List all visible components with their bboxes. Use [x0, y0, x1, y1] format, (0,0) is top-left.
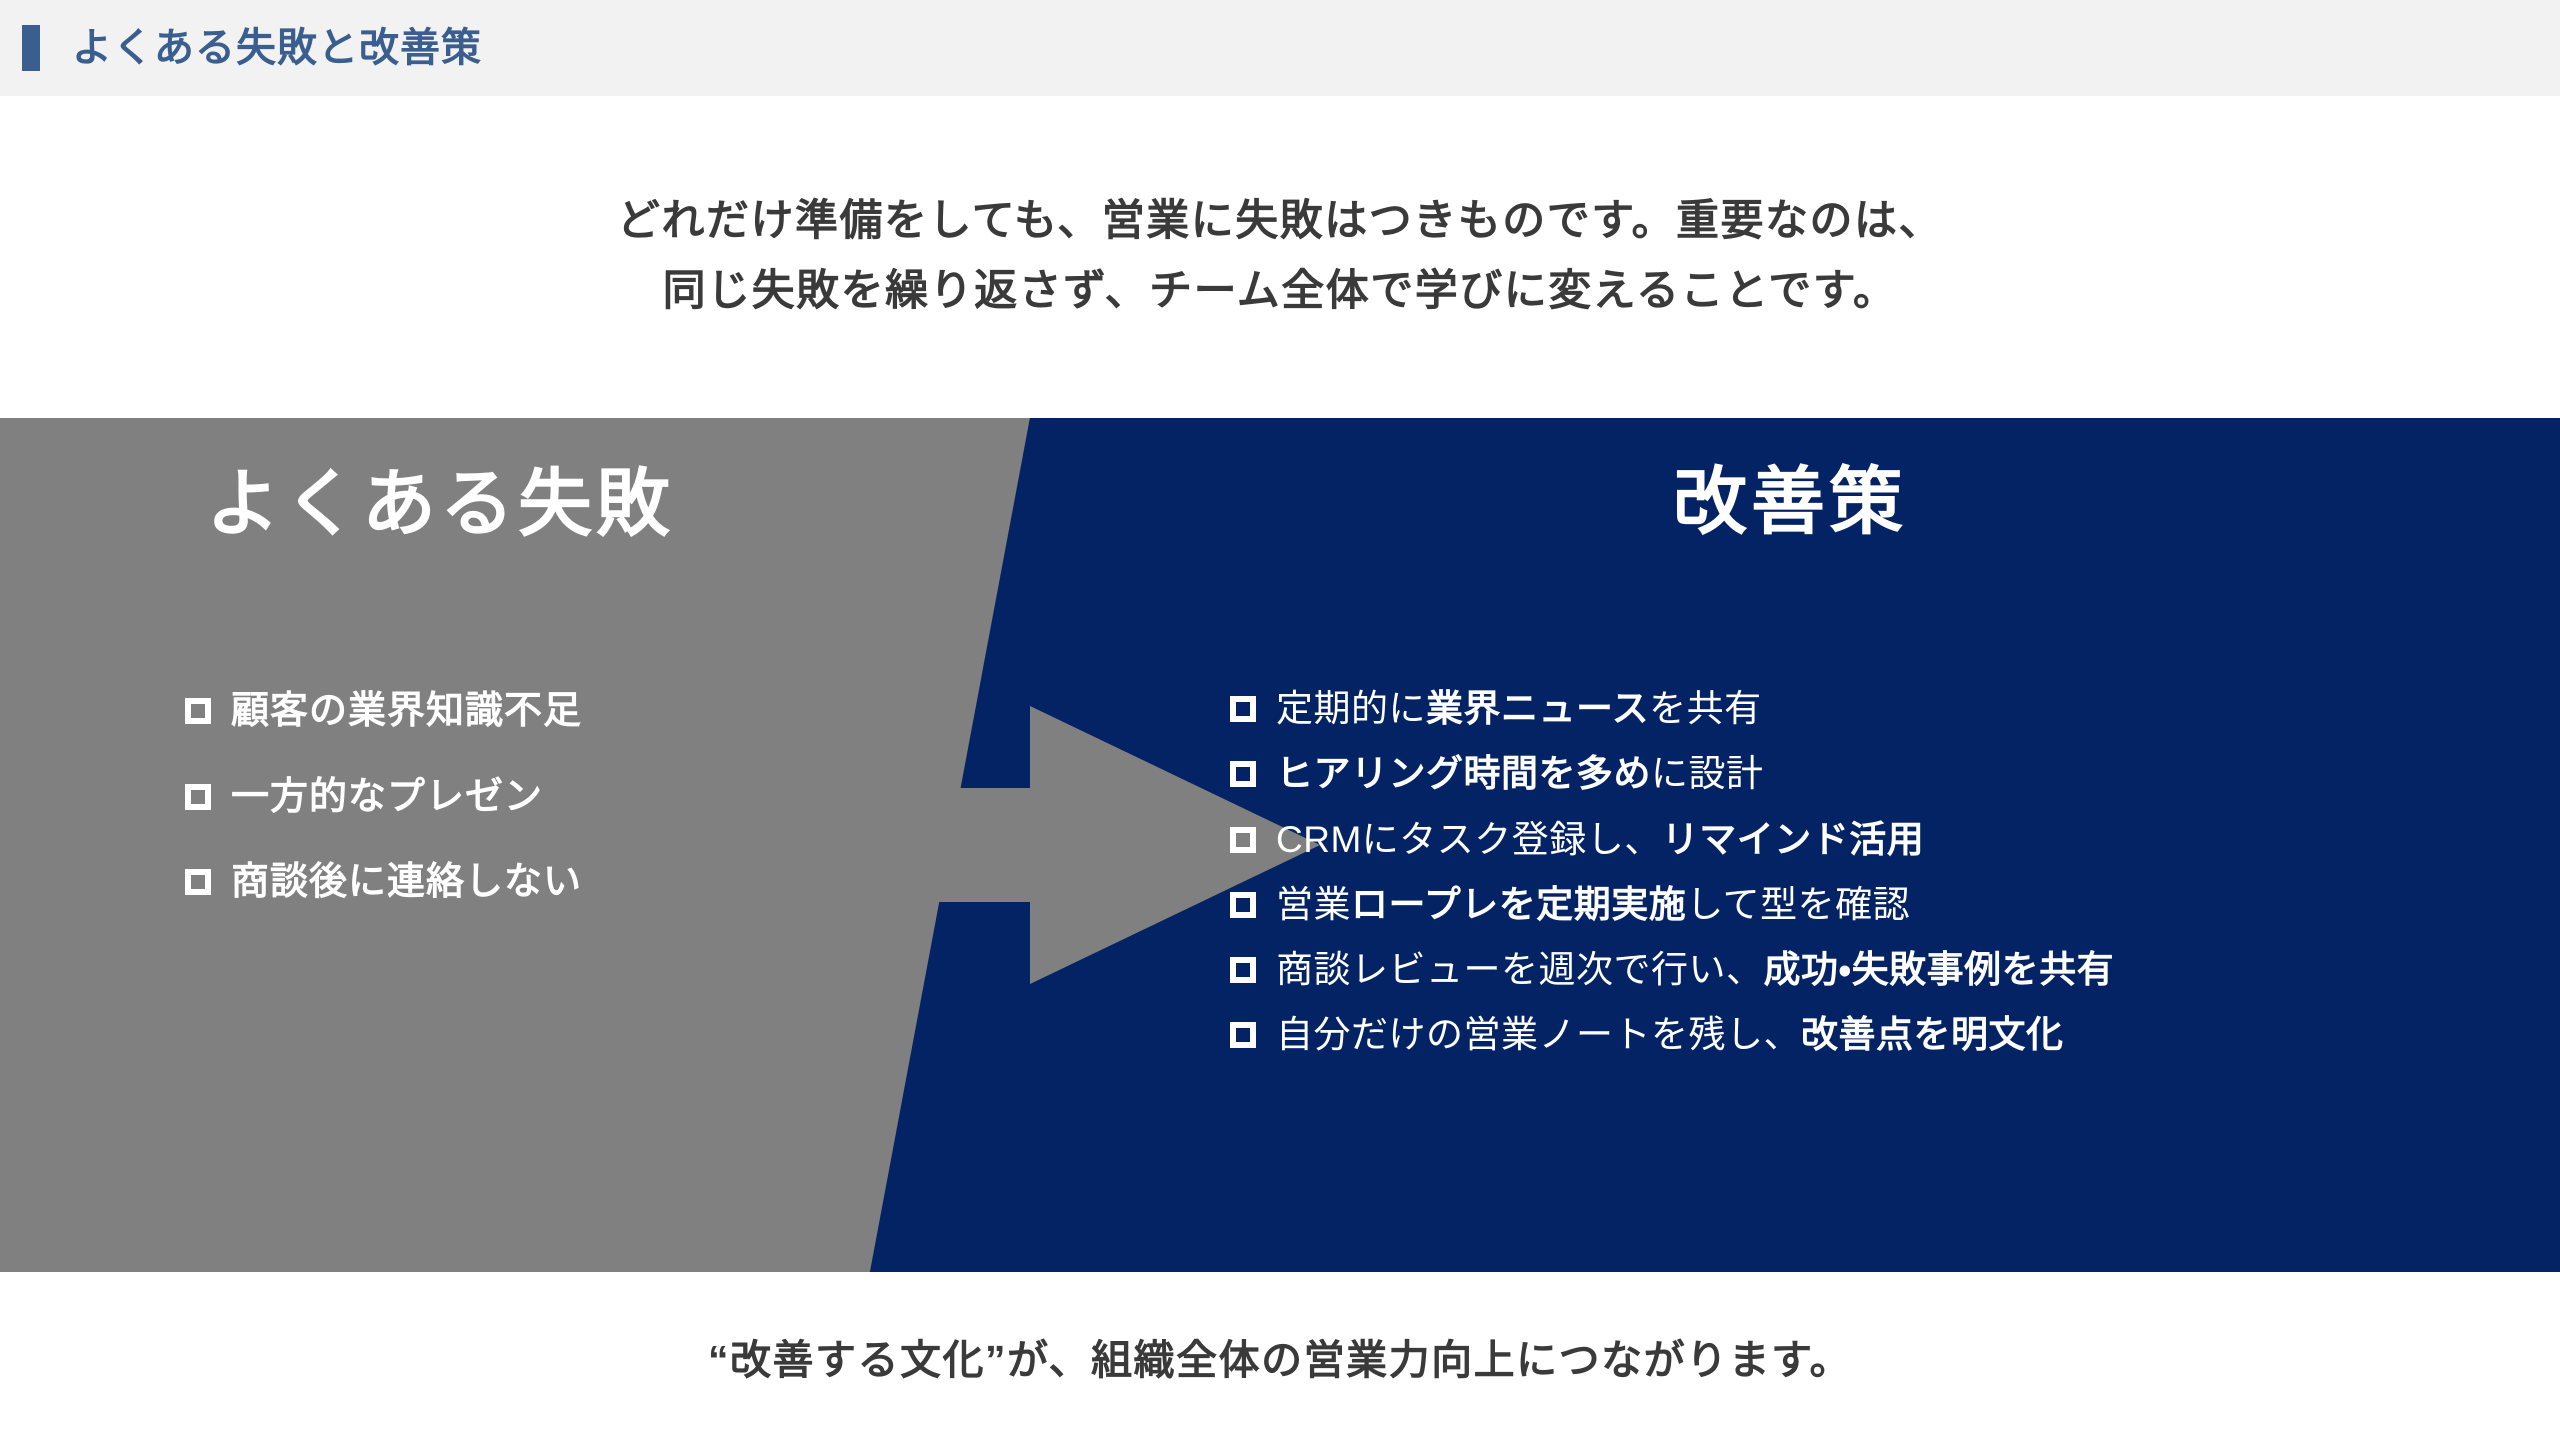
- footer-message: “改善する文化”が、組織全体の営業力向上につながります。: [708, 1326, 1852, 1386]
- failure-list: 顧客の業界知識不足 一方的なプレゼン 商談後に連絡しない: [185, 688, 582, 907]
- list-item: 自分だけの営業ノートを残し、改善点を明文化: [1230, 1012, 2114, 1058]
- header-accent-bar-icon: [22, 25, 40, 71]
- checkbox-square-icon: [1230, 696, 1256, 722]
- improvement-item-label: 商談レビューを週次で行い、成功・失敗事例を共有: [1276, 947, 2114, 993]
- page-title: よくある失敗と改善策: [72, 28, 482, 68]
- checkbox-square-icon: [1230, 892, 1256, 918]
- improvement-item-label: CRMにタスク登録し、リマインド活用: [1276, 817, 1924, 863]
- list-item: 顧客の業界知識不足: [185, 688, 582, 736]
- list-item: 営業ロープレを定期実施して型を確認: [1230, 882, 2114, 928]
- checkbox-square-icon: [1230, 827, 1256, 853]
- improvement-heading: 改善策: [1230, 458, 2350, 547]
- failure-column: よくある失敗 顧客の業界知識不足 一方的なプレゼン 商談後に連絡しない: [0, 418, 880, 1272]
- checkbox-square-icon: [1230, 957, 1256, 983]
- failure-item-label: 一方的なプレゼン: [231, 774, 543, 822]
- improvement-item-label: ヒアリング時間を多めに設計: [1276, 751, 1764, 797]
- list-item: CRMにタスク登録し、リマインド活用: [1230, 817, 2114, 863]
- list-item: 定期的に業界ニュースを共有: [1230, 686, 2114, 732]
- list-item: 商談レビューを週次で行い、成功・失敗事例を共有: [1230, 947, 2114, 993]
- comparison-band: よくある失敗 顧客の業界知識不足 一方的なプレゼン 商談後に連絡しない 改善策 …: [0, 418, 2560, 1272]
- improvement-item-label: 自分だけの営業ノートを残し、改善点を明文化: [1276, 1012, 2064, 1058]
- subtitle-line-1: どれだけ準備をしても、営業に失敗はつきものです。重要なのは、: [617, 187, 1943, 257]
- failure-item-label: 顧客の業界知識不足: [231, 688, 582, 736]
- checkbox-square-icon: [185, 698, 211, 724]
- improvement-item-label: 定期的に業界ニュースを共有: [1276, 686, 1762, 732]
- improvement-list: 定期的に業界ニュースを共有ヒアリング時間を多めに設計CRMにタスク登録し、リマイ…: [1230, 686, 2114, 1059]
- improvement-item-label: 営業ロープレを定期実施して型を確認: [1276, 882, 1910, 928]
- list-item: ヒアリング時間を多めに設計: [1230, 751, 2114, 797]
- subtitle-block: どれだけ準備をしても、営業に失敗はつきものです。重要なのは、 同じ失敗を繰り返さ…: [0, 96, 2560, 418]
- checkbox-square-icon: [1230, 1022, 1256, 1048]
- checkbox-square-icon: [1230, 761, 1256, 787]
- checkbox-square-icon: [185, 784, 211, 810]
- improvement-column: 改善策 定期的に業界ニュースを共有ヒアリング時間を多めに設計CRMにタスク登録し…: [1230, 418, 2560, 1272]
- list-item: 一方的なプレゼン: [185, 774, 582, 822]
- subtitle-line-2: 同じ失敗を繰り返さず、チーム全体で学びに変えることです。: [663, 257, 1898, 327]
- checkbox-square-icon: [185, 869, 211, 895]
- failure-heading: よくある失敗: [0, 460, 880, 549]
- footer-block: “改善する文化”が、組織全体の営業力向上につながります。: [0, 1272, 2560, 1440]
- slide-header: よくある失敗と改善策: [0, 0, 2560, 96]
- failure-item-label: 商談後に連絡しない: [231, 859, 582, 907]
- list-item: 商談後に連絡しない: [185, 859, 582, 907]
